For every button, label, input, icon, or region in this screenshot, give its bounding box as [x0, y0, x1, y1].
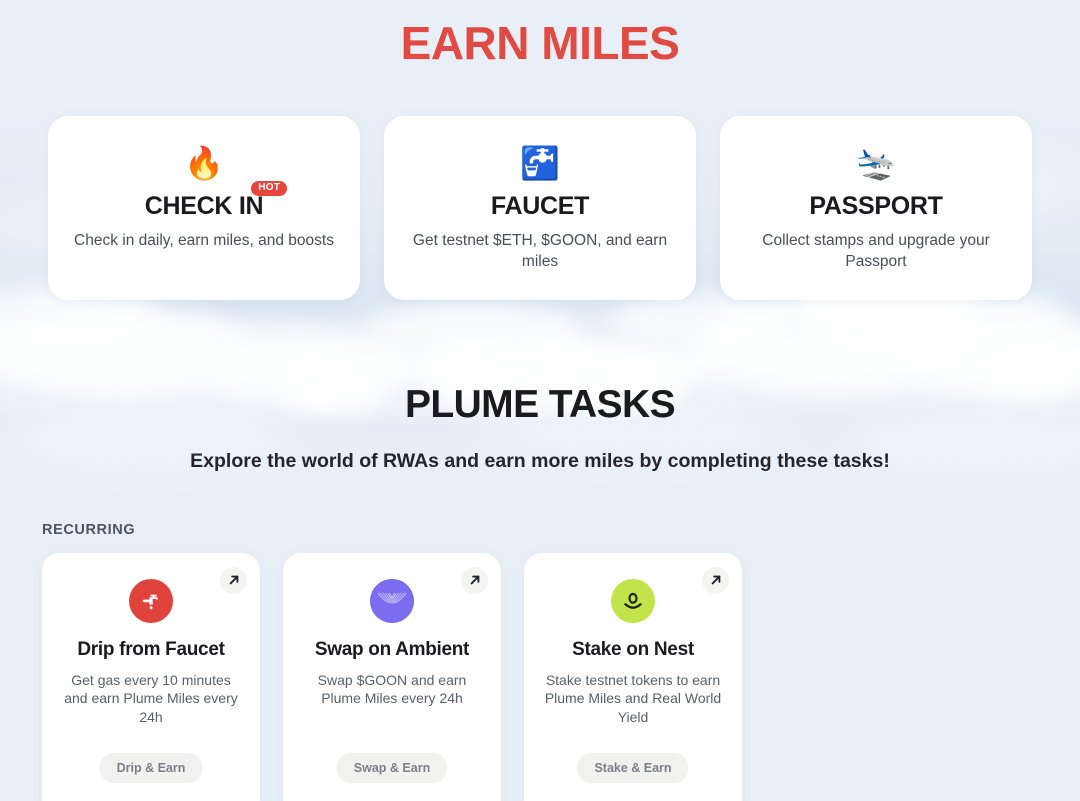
feature-description: Get testnet $ETH, $GOON, and earn miles — [404, 231, 676, 273]
feature-title-wrap: FAUCET — [491, 194, 589, 219]
section-subtitle: Explore the world of RWAs and earn more … — [0, 452, 1080, 472]
faucet-logo-icon — [129, 579, 173, 623]
task-description: Stake testnet tokens to earn Plume Miles… — [540, 671, 726, 727]
fire-icon: 🔥 — [68, 144, 340, 184]
task-card-row: Drip from Faucet Get gas every 10 minute… — [0, 553, 1080, 801]
section-title: PLUME TASKS — [0, 385, 1080, 424]
ambient-logo-icon — [370, 579, 414, 623]
task-card-drip-from-faucet[interactable]: Drip from Faucet Get gas every 10 minute… — [42, 553, 260, 801]
task-description: Get gas every 10 minutes and earn Plume … — [58, 671, 244, 727]
task-group-label: RECURRING — [42, 522, 1080, 538]
task-action-button[interactable]: Drip & Earn — [100, 753, 203, 783]
feature-title-wrap: PASSPORT — [809, 194, 942, 219]
feature-title-wrap: CHECK IN HOT — [145, 194, 263, 219]
task-action-button[interactable]: Swap & Earn — [337, 753, 447, 783]
task-card-stake-on-nest[interactable]: Stake on Nest Stake testnet tokens to ea… — [524, 553, 742, 801]
feature-card-passport[interactable]: 🛬 PASSPORT Collect stamps and upgrade yo… — [720, 116, 1032, 300]
task-title: Stake on Nest — [540, 639, 726, 661]
page-title: EARN MILES — [0, 0, 1080, 67]
airplane-arriving-icon: 🛬 — [740, 144, 1012, 184]
nest-logo-icon — [611, 579, 655, 623]
arrow-up-right-icon[interactable] — [220, 567, 247, 594]
task-description: Swap $GOON and earn Plume Miles every 24… — [299, 671, 485, 708]
feature-description: Check in daily, earn miles, and boosts — [68, 231, 340, 252]
earn-miles-page: EARN MILES 🔥 CHECK IN HOT Check in daily… — [0, 0, 1080, 801]
feature-title: PASSPORT — [809, 192, 942, 220]
feature-description: Collect stamps and upgrade your Passport — [740, 231, 1012, 273]
faucet-icon: 🚰 — [404, 144, 676, 184]
feature-card-check-in[interactable]: 🔥 CHECK IN HOT Check in daily, earn mile… — [48, 116, 360, 300]
task-title: Swap on Ambient — [299, 639, 485, 661]
feature-title: CHECK IN — [145, 192, 263, 220]
feature-title: FAUCET — [491, 192, 589, 220]
task-action-button[interactable]: Stake & Earn — [577, 753, 688, 783]
hot-badge: HOT — [251, 181, 287, 196]
feature-card-faucet[interactable]: 🚰 FAUCET Get testnet $ETH, $GOON, and ea… — [384, 116, 696, 300]
task-title: Drip from Faucet — [58, 639, 244, 661]
arrow-up-right-icon[interactable] — [461, 567, 488, 594]
arrow-up-right-icon[interactable] — [702, 567, 729, 594]
feature-card-row: 🔥 CHECK IN HOT Check in daily, earn mile… — [0, 116, 1080, 300]
task-card-swap-on-ambient[interactable]: Swap on Ambient Swap $GOON and earn Plum… — [283, 553, 501, 801]
